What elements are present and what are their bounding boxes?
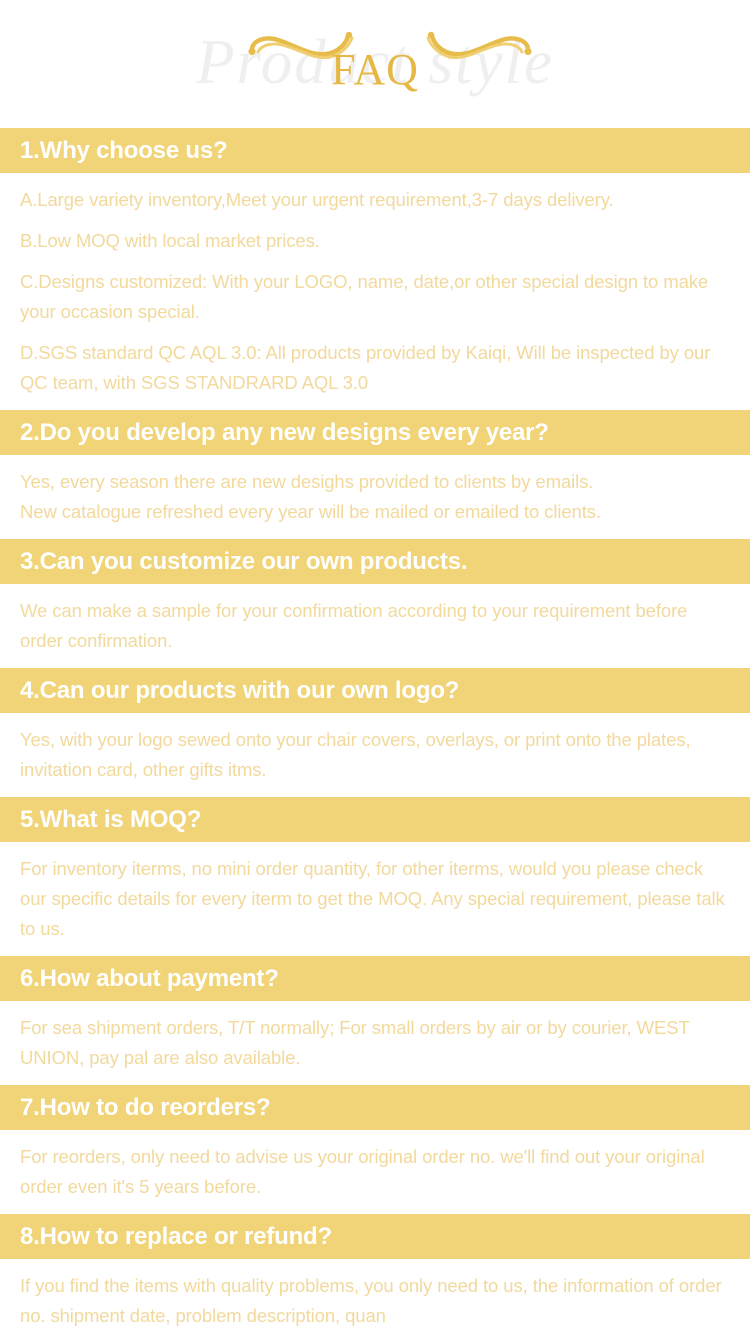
faq-question-header[interactable]: 1.Why choose us? [0, 128, 750, 173]
faq-item: 3.Can you customize our own products.We … [0, 539, 750, 668]
faq-answer-line: If you find the items with quality probl… [20, 1271, 728, 1331]
faq-question-header[interactable]: 2.Do you develop any new designs every y… [0, 410, 750, 455]
faq-answer: For sea shipment orders, T/T normally; F… [0, 1001, 750, 1085]
faq-answer: We can make a sample for your confirmati… [0, 584, 750, 668]
page-title: FAQ [0, 44, 750, 95]
faq-answer: A.Large variety inventory,Meet your urge… [0, 173, 750, 410]
faq-answer: Yes, every season there are new desighs … [0, 455, 750, 539]
faq-answer-line: B.Low MOQ with local market prices. [20, 226, 728, 256]
faq-answer-line: For sea shipment orders, T/T normally; F… [20, 1013, 728, 1073]
faq-item: 4.Can our products with our own logo?Yes… [0, 668, 750, 797]
faq-answer-line: Yes, every season there are new desighs … [20, 467, 728, 497]
faq-item: 6.How about payment?For sea shipment ord… [0, 956, 750, 1085]
faq-question-header[interactable]: 7.How to do reorders? [0, 1085, 750, 1130]
faq-item: 8.How to replace or refund?If you find t… [0, 1214, 750, 1343]
faq-answer: For reorders, only need to advise us you… [0, 1130, 750, 1214]
faq-answer: If you find the items with quality probl… [0, 1259, 750, 1343]
faq-item: 5.What is MOQ?For inventory iterms, no m… [0, 797, 750, 956]
faq-banner: Product style FAQ [0, 0, 750, 128]
faq-answer-line: We can make a sample for your confirmati… [20, 596, 728, 656]
faq-list: 1.Why choose us?A.Large variety inventor… [0, 128, 750, 1343]
faq-answer: Yes, with your logo sewed onto your chai… [0, 713, 750, 797]
faq-answer-line: D.SGS standard QC AQL 3.0: All products … [20, 338, 728, 398]
faq-item: 1.Why choose us?A.Large variety inventor… [0, 128, 750, 410]
faq-question-header[interactable]: 3.Can you customize our own products. [0, 539, 750, 584]
faq-item: 7.How to do reorders?For reorders, only … [0, 1085, 750, 1214]
faq-answer-line: New catalogue refreshed every year will … [20, 497, 728, 527]
faq-question-header[interactable]: 5.What is MOQ? [0, 797, 750, 842]
faq-answer-line: Yes, with your logo sewed onto your chai… [20, 725, 728, 785]
faq-item: 2.Do you develop any new designs every y… [0, 410, 750, 539]
faq-answer-line: For inventory iterms, no mini order quan… [20, 854, 728, 944]
faq-answer-line: A.Large variety inventory,Meet your urge… [20, 185, 728, 215]
faq-answer-line: C.Designs customized: With your LOGO, na… [20, 267, 728, 327]
faq-answer-line: For reorders, only need to advise us you… [20, 1142, 728, 1202]
faq-question-header[interactable]: 8.How to replace or refund? [0, 1214, 750, 1259]
faq-question-header[interactable]: 6.How about payment? [0, 956, 750, 1001]
faq-question-header[interactable]: 4.Can our products with our own logo? [0, 668, 750, 713]
faq-answer: For inventory iterms, no mini order quan… [0, 842, 750, 956]
